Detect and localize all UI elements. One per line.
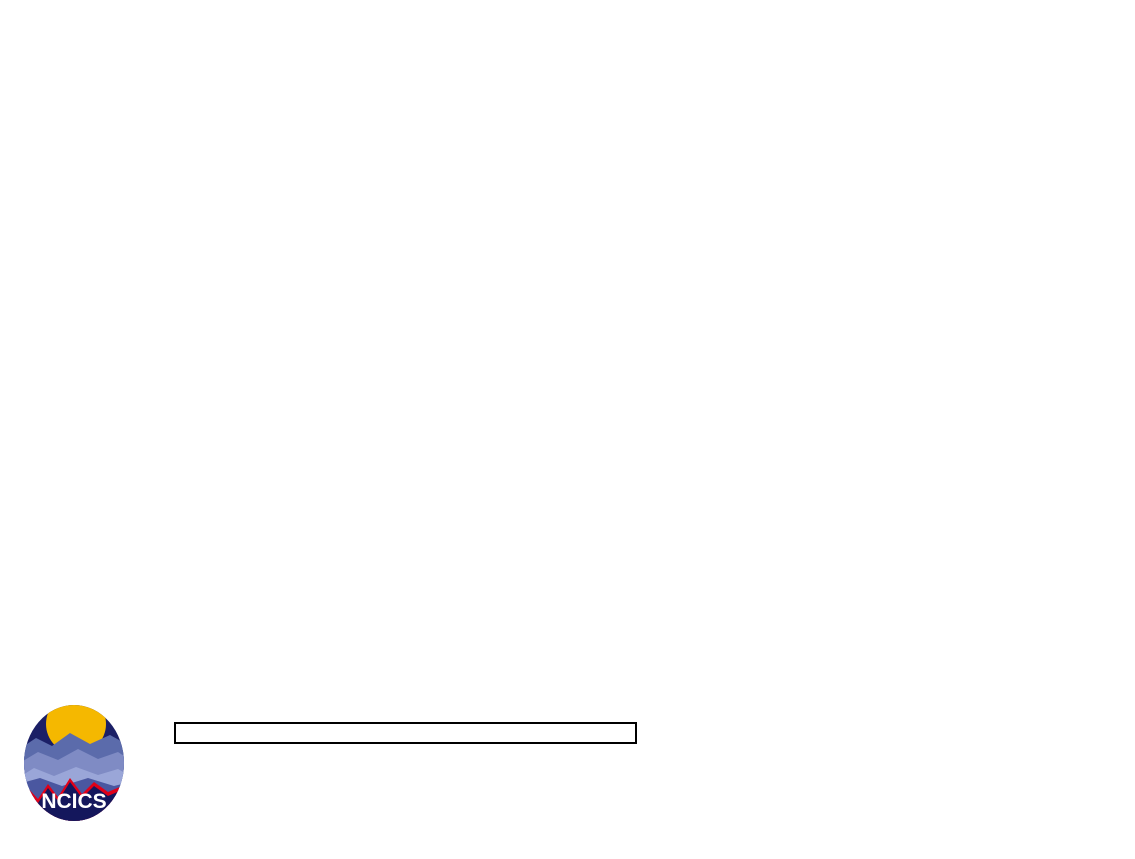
logo-text: NCICS: [41, 790, 106, 813]
colorbar: [174, 722, 637, 744]
ncics-logo: NCICS: [18, 702, 130, 824]
contour-legend: [808, 716, 1128, 778]
